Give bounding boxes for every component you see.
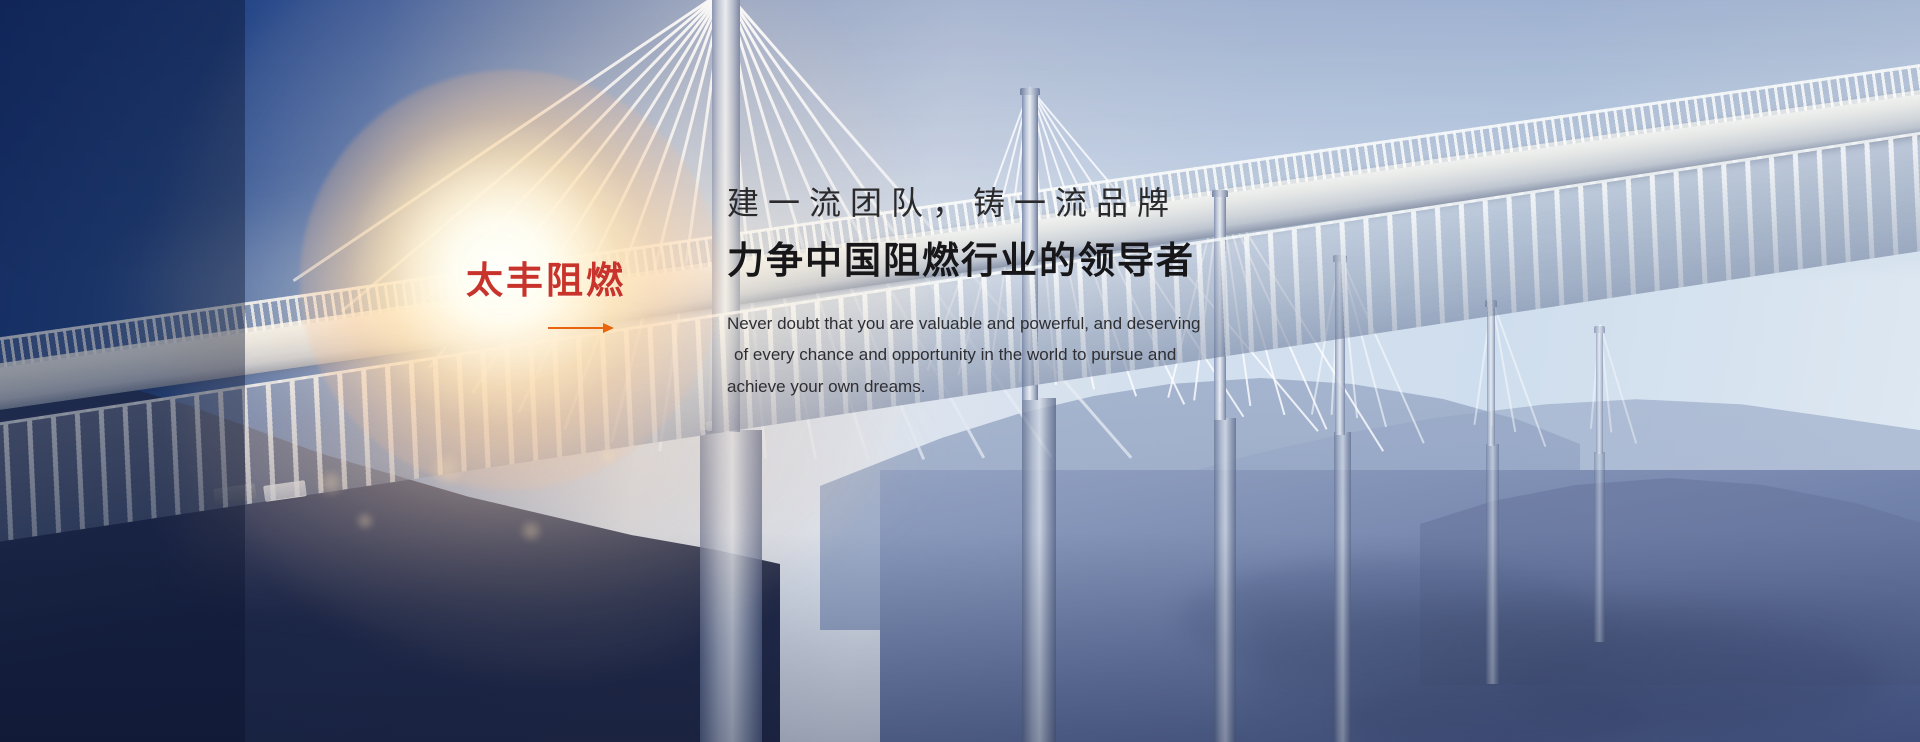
arrow-head — [603, 323, 614, 333]
banner-copy: 建一流团队，铸一流品牌 力争中国阻燃行业的领导者 Never doubt tha… — [727, 186, 1487, 402]
body-paragraph: Never doubt that you are valuable and po… — [727, 308, 1287, 402]
body-line-3: achieve your own dreams. — [727, 371, 1287, 402]
banner-content: 太丰阻燃 建一流团队，铸一流品牌 力争中国阻燃行业的领导者 Never doub… — [0, 0, 1920, 742]
hero-banner: 太丰阻燃 建一流团队，铸一流品牌 力争中国阻燃行业的领导者 Never doub… — [0, 0, 1920, 742]
arrow-right-icon — [548, 323, 614, 332]
headline-secondary: 力争中国阻燃行业的领导者 — [727, 241, 1487, 282]
brand-logo[interactable]: 太丰阻燃 — [466, 262, 636, 332]
arrow-shaft — [548, 327, 610, 329]
body-line-1: Never doubt that you are valuable and po… — [727, 308, 1287, 339]
headline-primary: 建一流团队，铸一流品牌 — [727, 186, 1487, 221]
body-line-2: of every chance and opportunity in the w… — [727, 339, 1287, 370]
brand-logo-text: 太丰阻燃 — [466, 262, 636, 299]
